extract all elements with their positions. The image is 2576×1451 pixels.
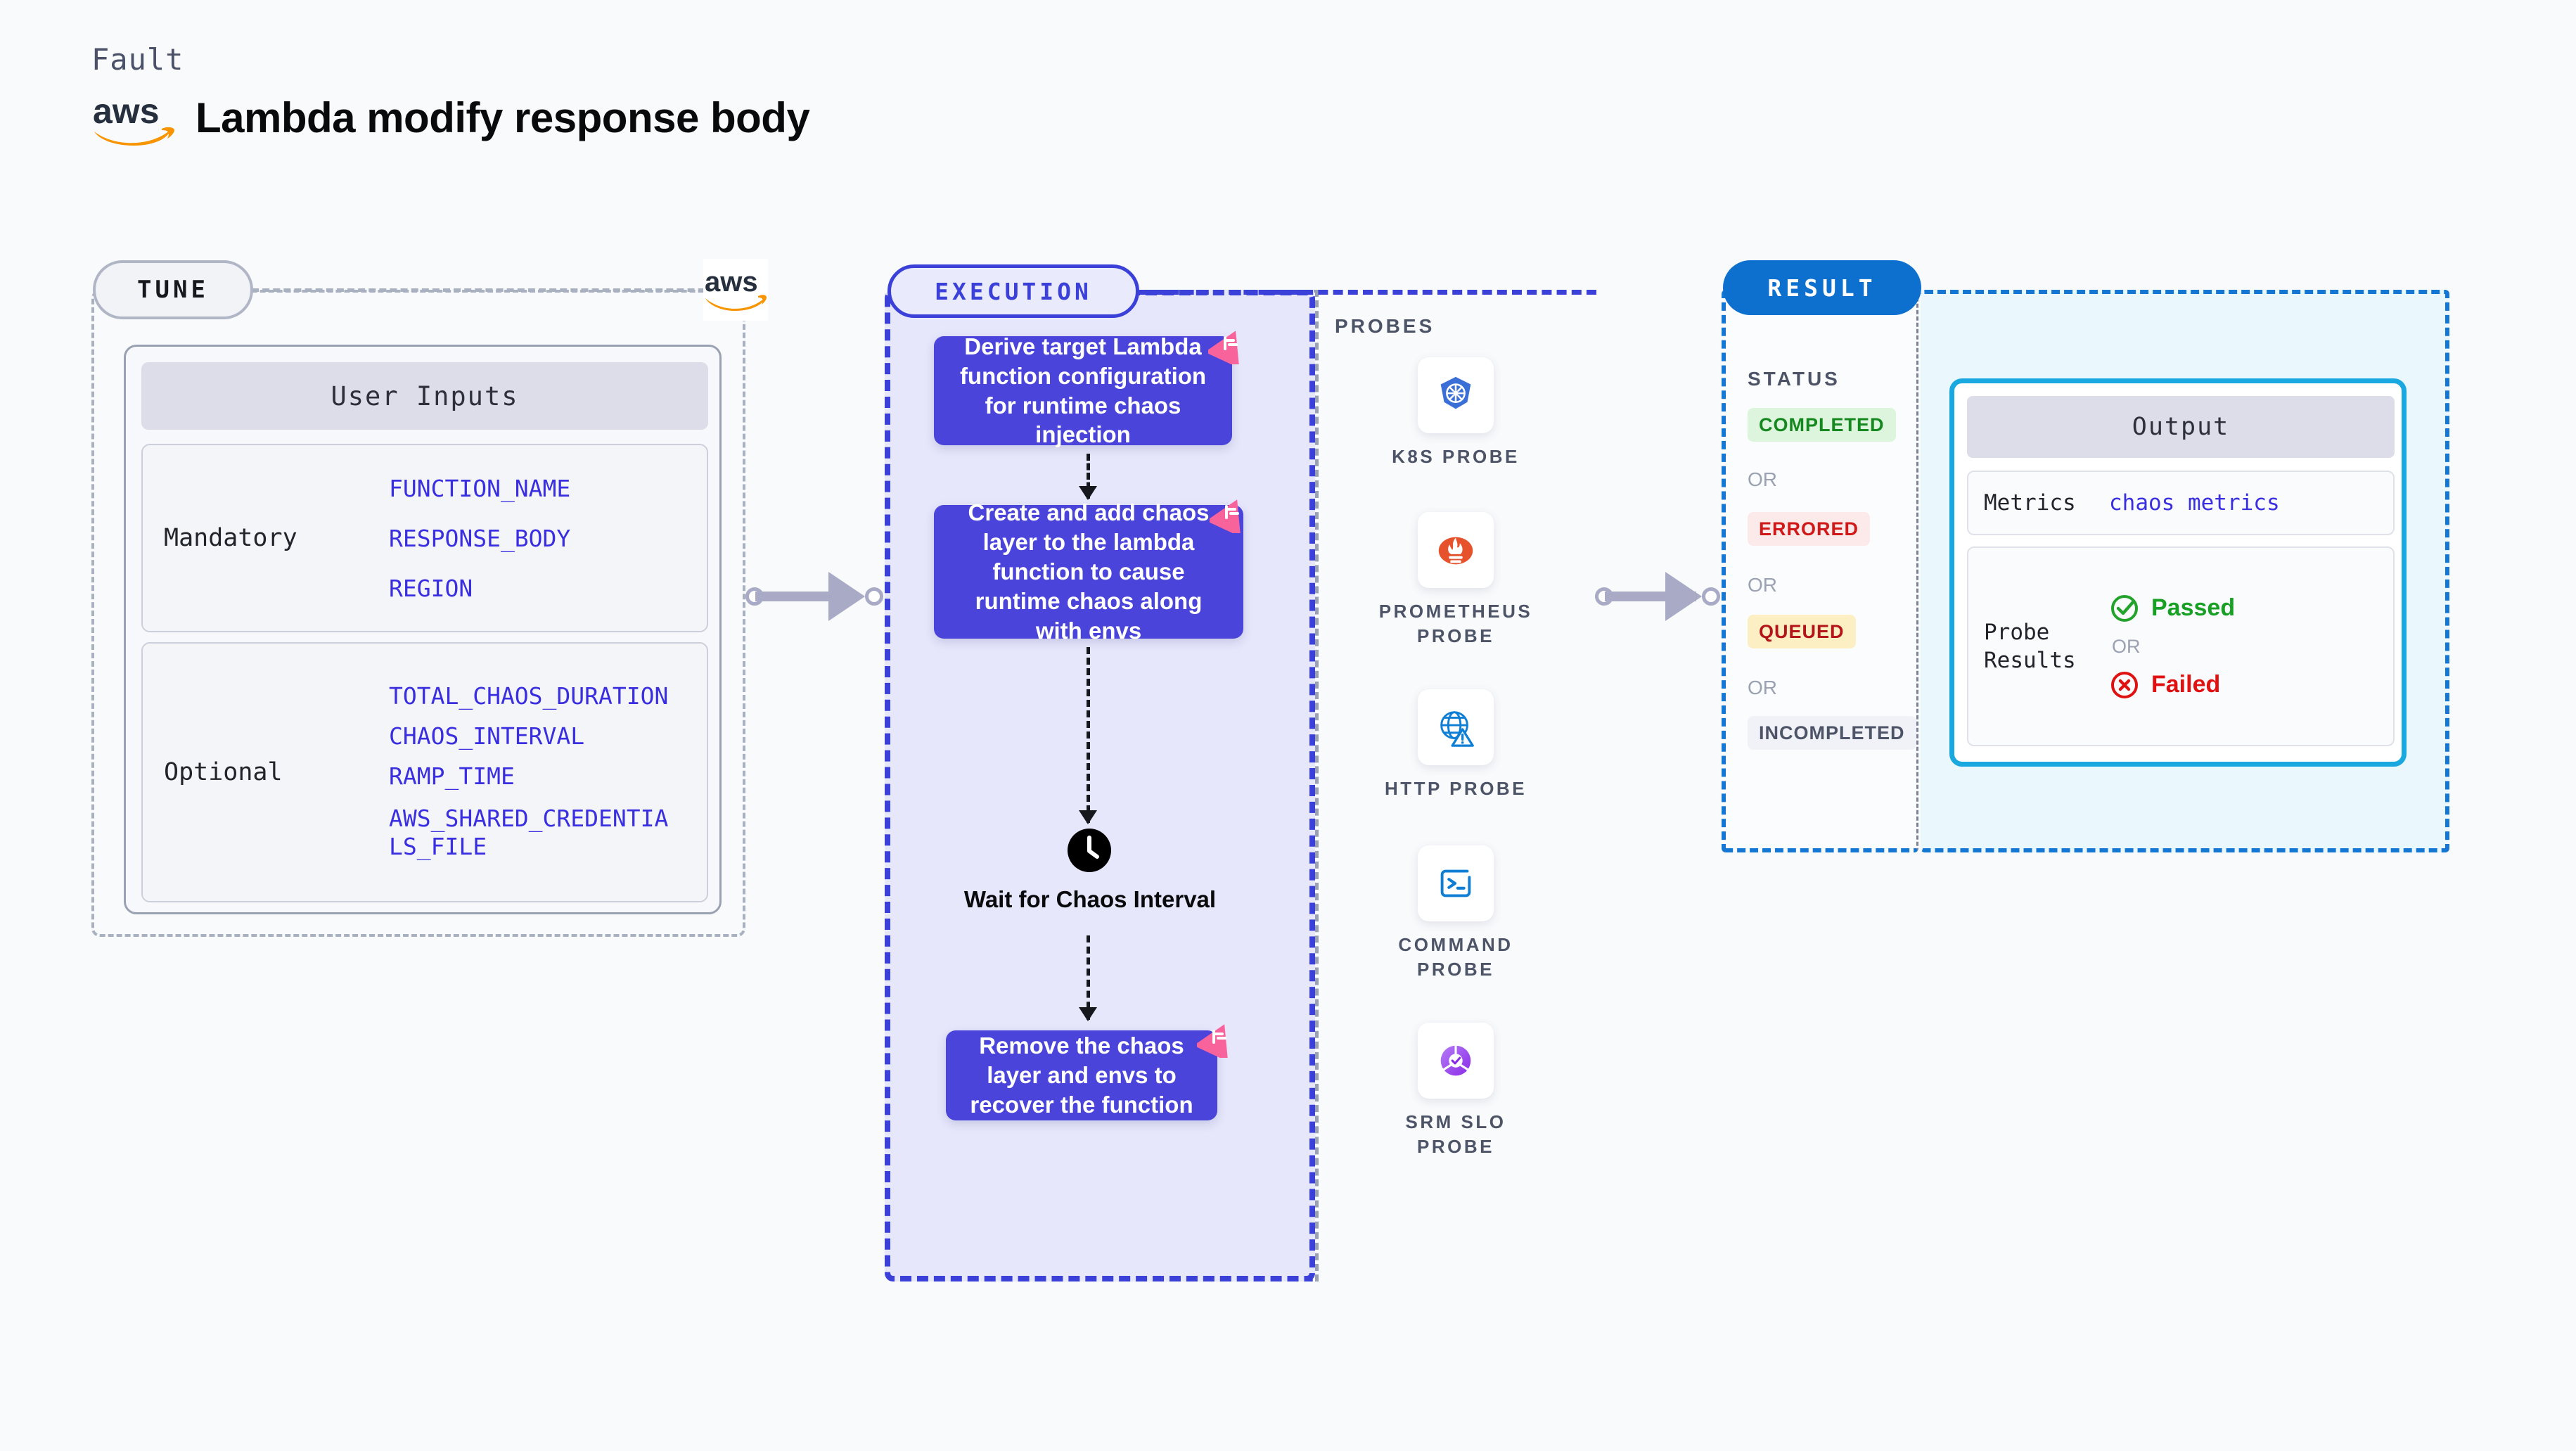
status-badge-label: ERRORED [1759, 518, 1859, 540]
user-inputs-title-label: User Inputs [331, 381, 518, 411]
probe-result-or-label: OR [2112, 636, 2235, 658]
failed-label: Failed [2151, 671, 2220, 698]
result-pill-label: RESULT [1767, 274, 1876, 302]
status-or-label: OR [1748, 468, 1777, 491]
status-badge-label: COMPLETED [1759, 414, 1885, 436]
execution-step: Remove the chaos layer and envs to recov… [946, 1030, 1217, 1120]
input-param: RAMP_TIME [389, 765, 677, 788]
status-or-label: OR [1748, 677, 1777, 699]
mandatory-values: FUNCTION_NAME RESPONSE_BODY REGION [389, 464, 570, 613]
wait-for-chaos-interval-label: Wait for Chaos Interval [963, 885, 1217, 914]
connector-arrowhead [1665, 572, 1702, 621]
status-badge-label: INCOMPLETED [1759, 722, 1905, 744]
probe-label: PROMETHEUS PROBE [1364, 599, 1547, 648]
aws-logo: aws [703, 259, 768, 321]
chaos-badge-icon [1197, 1021, 1238, 1058]
input-param: CHAOS_INTERVAL [389, 724, 677, 748]
execution-pill-label: EXECUTION [935, 278, 1092, 305]
probe-result-passed: Passed [2109, 588, 2235, 629]
execution-step-text: Derive target Lambda function configurat… [934, 332, 1232, 450]
probe-item[interactable]: SRM SLO PROBE [1364, 1023, 1547, 1159]
chaos-badge-icon [1210, 497, 1250, 533]
input-param: REGION [389, 577, 570, 600]
connector-arrowhead [828, 572, 865, 621]
tune-to-execution-connector [745, 572, 886, 621]
aws-logo: aws [91, 87, 177, 148]
prometheus-icon [1418, 512, 1494, 588]
execution-pill: EXECUTION [887, 264, 1139, 318]
probe-results-values: Passed OR Failed [2109, 588, 2235, 705]
optional-values: TOTAL_CHAOS_DURATION CHAOS_INTERVAL RAMP… [389, 676, 677, 869]
tune-dashed-connector [252, 288, 737, 292]
svg-text:aws: aws [93, 91, 160, 131]
result-pill: RESULT [1723, 260, 1921, 315]
status-badge: ERRORED [1748, 512, 1870, 546]
flow-arrow [1087, 935, 1088, 1020]
probe-results-label: Probe Results [1968, 618, 2109, 675]
check-circle-icon [2109, 593, 2140, 624]
input-param: AWS_SHARED_CREDENTIALS_FILE [389, 805, 677, 860]
connector-dot [865, 587, 883, 606]
flow-arrow [1087, 647, 1088, 823]
status-badge: QUEUED [1748, 615, 1856, 648]
page-title: Lambda modify response body [196, 94, 809, 142]
status-badge: INCOMPLETED [1748, 716, 1916, 750]
probe-item[interactable]: HTTP PROBE [1364, 689, 1547, 801]
probe-label: COMMAND PROBE [1364, 933, 1547, 982]
mandatory-label: Mandatory [143, 524, 389, 552]
kubernetes-icon [1418, 357, 1494, 433]
probe-item[interactable]: PROMETHEUS PROBE [1364, 512, 1547, 648]
fault-label: Fault [91, 42, 809, 77]
svg-text:aws: aws [705, 267, 758, 298]
passed-label: Passed [2151, 594, 2235, 622]
tune-pill: TUNE [93, 260, 253, 319]
output-title: Output [1967, 396, 2395, 458]
input-param: TOTAL_CHAOS_DURATION [389, 684, 677, 708]
probes-title: PROBES [1335, 315, 1435, 338]
probe-label: SRM SLO PROBE [1364, 1110, 1547, 1159]
output-card: Output Metrics chaos metrics Probe Resul… [1949, 378, 2407, 767]
input-param: FUNCTION_NAME [389, 477, 570, 500]
chaos-badge-icon [1208, 328, 1249, 364]
execution-step: Create and add chaos layer to the lambda… [934, 505, 1243, 639]
mandatory-inputs-group: Mandatory FUNCTION_NAME RESPONSE_BODY RE… [141, 444, 708, 632]
x-circle-icon [2109, 670, 2140, 701]
execution-step-text: Create and add chaos layer to the lambda… [934, 498, 1243, 646]
output-title-label: Output [2132, 413, 2229, 441]
probe-item[interactable]: COMMAND PROBE [1364, 845, 1547, 982]
optional-label: Optional [143, 758, 389, 786]
metrics-label: Metrics [1968, 489, 2109, 517]
execution-step-text: Remove the chaos layer and envs to recov… [946, 1031, 1217, 1120]
status-title: STATUS [1748, 368, 1840, 390]
metrics-value: chaos metrics [2109, 490, 2280, 516]
status-or-label: OR [1748, 574, 1777, 596]
probe-label: HTTP PROBE [1385, 776, 1527, 801]
status-badge: COMPLETED [1748, 408, 1896, 442]
page-header: Fault aws Lambda modify response body [91, 42, 809, 148]
execution-dashed-connector [1139, 290, 1596, 295]
probe-results-row: Probe Results Passed OR Failed [1967, 546, 2395, 746]
probe-item[interactable]: K8S PROBE [1364, 357, 1547, 469]
input-param: RESPONSE_BODY [389, 527, 570, 550]
probe-result-failed: Failed [2109, 665, 2235, 705]
execution-step: Derive target Lambda function configurat… [934, 336, 1232, 445]
execution-to-result-connector [1595, 572, 1723, 621]
user-inputs-title: User Inputs [141, 362, 708, 430]
diagram-canvas: Fault aws Lambda modify response body TU… [0, 0, 2576, 1451]
http-globe-warning-icon [1418, 689, 1494, 765]
clock-icon [1068, 829, 1111, 872]
status-badge-label: QUEUED [1759, 621, 1845, 643]
connector-dot [1702, 587, 1720, 606]
probe-label: K8S PROBE [1392, 445, 1520, 469]
optional-inputs-group: Optional TOTAL_CHAOS_DURATION CHAOS_INTE… [141, 642, 708, 902]
tune-pill-label: TUNE [137, 276, 209, 304]
srm-slo-icon [1418, 1023, 1494, 1099]
metrics-row: Metrics chaos metrics [1967, 471, 2395, 535]
flow-arrow [1087, 454, 1088, 499]
user-inputs-card: User Inputs Mandatory FUNCTION_NAME RESP… [124, 345, 722, 914]
terminal-icon [1418, 845, 1494, 921]
